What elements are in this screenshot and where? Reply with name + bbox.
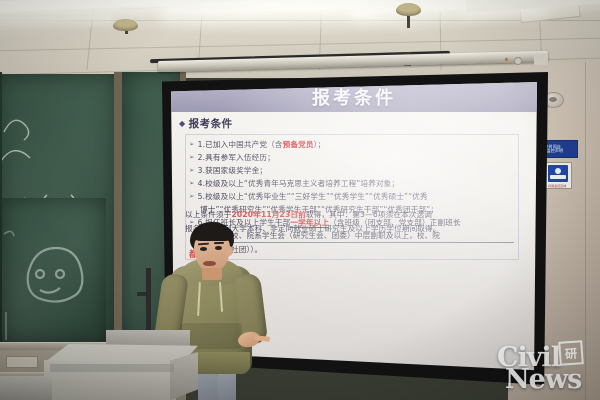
- lectern-inner-shadow: [50, 364, 174, 372]
- list-item: ➢ 3.获国家级奖学金；: [189, 164, 514, 177]
- roller-button: [514, 57, 522, 65]
- slide-subheading: 报考条件: [189, 116, 233, 131]
- surveillance-caption: 视频监控区域: [548, 183, 566, 188]
- roller-indicator: [505, 58, 508, 61]
- wall-outlet-plate: [6, 356, 38, 368]
- ceiling-speaker: [113, 19, 138, 31]
- video-surveillance-sign: 视频监控区域: [543, 162, 572, 189]
- bullet-marker-icon: ➢: [189, 190, 195, 202]
- watermark-badge-icon: 研: [558, 340, 584, 366]
- bullet-text: 1.已加入中国共产党（含预备党员）；: [198, 138, 514, 151]
- bullet-text: 3.获国家级奖学金；: [198, 164, 514, 177]
- fluorescent-strip-light: [168, 0, 368, 13]
- bullet-text: 2.具有参军入伍经历；: [198, 151, 514, 164]
- bullet-text: 4.校级及以上“优秀青年马克思主义者培养工程”培养对象；: [198, 177, 514, 190]
- slide-title: 报考条件: [312, 84, 396, 110]
- presenter-eye: [215, 246, 222, 250]
- classroom-photo-scene: 自冲时间自 考试监控声明 视频监控区域: [0, 0, 600, 400]
- list-item: ➢ 5.校级及以上“优秀毕业生”“三好学生”“优秀学生”“优秀硕士”“优秀: [189, 190, 514, 203]
- ceiling-speaker: [396, 3, 421, 16]
- presenter-neck: [202, 268, 222, 280]
- presenter-hair-front: [192, 224, 234, 241]
- presenter-mouth: [203, 261, 216, 266]
- microphone-stand-arm: [137, 292, 149, 296]
- list-item: ➢ 2.具有参军入伍经历；: [189, 151, 514, 164]
- bullet-marker-icon: ➢: [189, 138, 195, 150]
- diamond-bullet-icon: ◆: [179, 120, 186, 128]
- bullet-marker-icon: ➢: [189, 164, 195, 176]
- list-item: ➢ 4.校级及以上“优秀青年马克思主义者培养工程”培养对象；: [189, 177, 514, 190]
- list-item: ➢ 1.已加入中国共产党（含预备党员）；: [189, 138, 514, 151]
- bullet-text: 5.校级及以上“优秀毕业生”“三好学生”“优秀学生”“优秀硕士”“优秀: [198, 190, 514, 203]
- front-desk: [0, 376, 52, 400]
- surveillance-camera-icon: [548, 165, 568, 182]
- slide-subheading-row: ◆ 报考条件: [179, 116, 233, 131]
- presenter-leg: [218, 370, 236, 400]
- bullet-marker-icon: ➢: [189, 177, 195, 189]
- presenter-ear: [226, 246, 233, 256]
- presenter-eyebrow: [214, 242, 224, 244]
- bullet-marker-icon: ➢: [189, 151, 195, 163]
- presenter-eye: [200, 247, 207, 251]
- slide-note-line1: 以上条件须于2020年11月23日前取得，其中：第3—6项须在本次选调: [185, 208, 519, 222]
- roller-end-cap: [534, 54, 548, 65]
- chalkboard-center: [2, 198, 106, 344]
